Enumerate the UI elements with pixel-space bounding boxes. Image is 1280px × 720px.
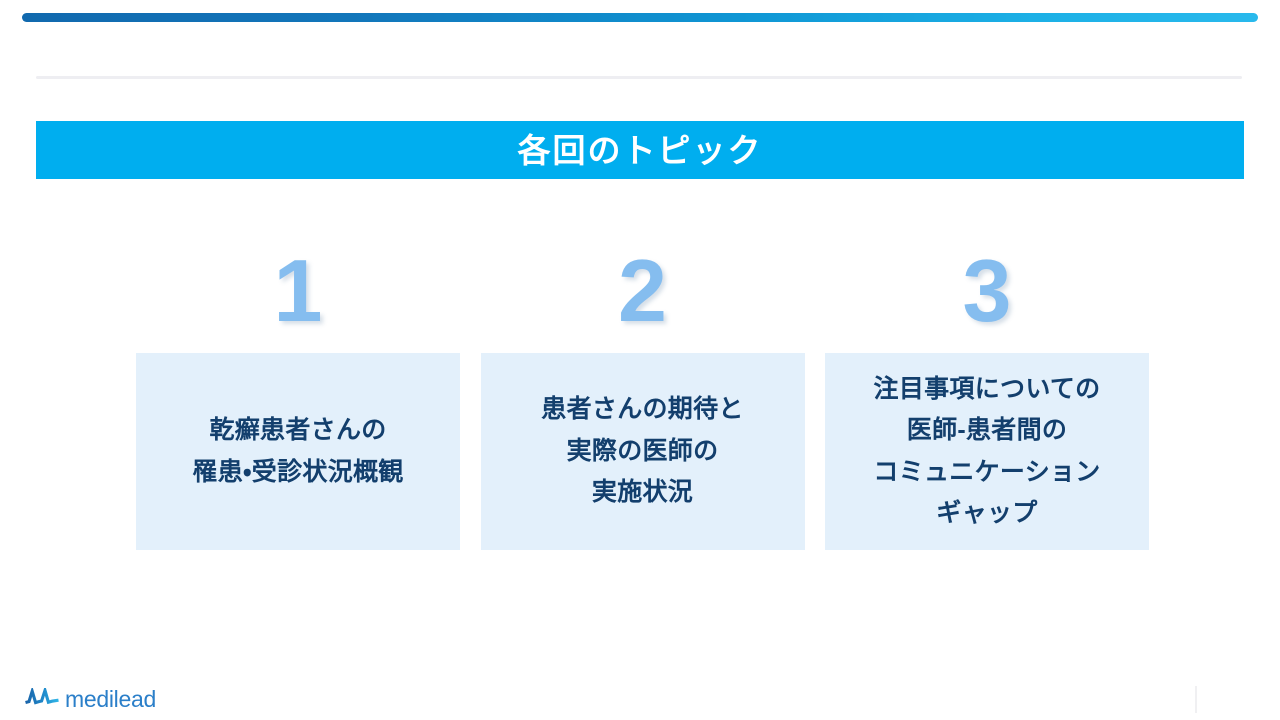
footer-logo: medilead (25, 686, 156, 712)
topics-row: 1 乾癬患者さんの 罹患・受診状況概観 2 患者さんの期待と 実際の医師の 実施… (136, 228, 1149, 553)
topic-column-1: 1 乾癬患者さんの 罹患・受診状況概観 (136, 228, 460, 553)
slide-root: 各回のトピック 1 乾癬患者さんの 罹患・受診状況概観 2 患者さんの期待と 実… (0, 0, 1280, 720)
header-divider (36, 76, 1242, 79)
topic-column-2: 2 患者さんの期待と 実際の医師の 実施状況 (481, 228, 805, 553)
slide-title-banner: 各回のトピック (36, 121, 1244, 179)
topic-card-3[interactable]: 注目事項についての 医師-患者間の コミュニケーション ギャップ (825, 353, 1149, 550)
page-title: 各回のトピック (518, 134, 763, 167)
topic-card-2[interactable]: 患者さんの期待と 実際の医師の 実施状況 (481, 353, 805, 550)
topic-card-1[interactable]: 乾癬患者さんの 罹患・受診状況概観 (136, 353, 460, 550)
topic-card-3-label: 注目事項についての 医師-患者間の コミュニケーション ギャップ (873, 369, 1100, 534)
topic-number-3: 3 (963, 228, 1012, 353)
topic-number-1: 1 (274, 228, 323, 353)
pulse-waveform-icon (25, 688, 59, 710)
footer-separator (1195, 686, 1197, 713)
topic-card-1-label: 乾癬患者さんの 罹患・受診状況概観 (192, 410, 403, 493)
footer-logo-text: medilead (65, 688, 156, 711)
topic-card-2-label: 患者さんの期待と 実際の医師の 実施状況 (541, 389, 743, 514)
topic-column-3: 3 注目事項についての 医師-患者間の コミュニケーション ギャップ (825, 228, 1149, 553)
top-accent-bar (22, 13, 1258, 22)
topic-number-2: 2 (618, 228, 667, 353)
